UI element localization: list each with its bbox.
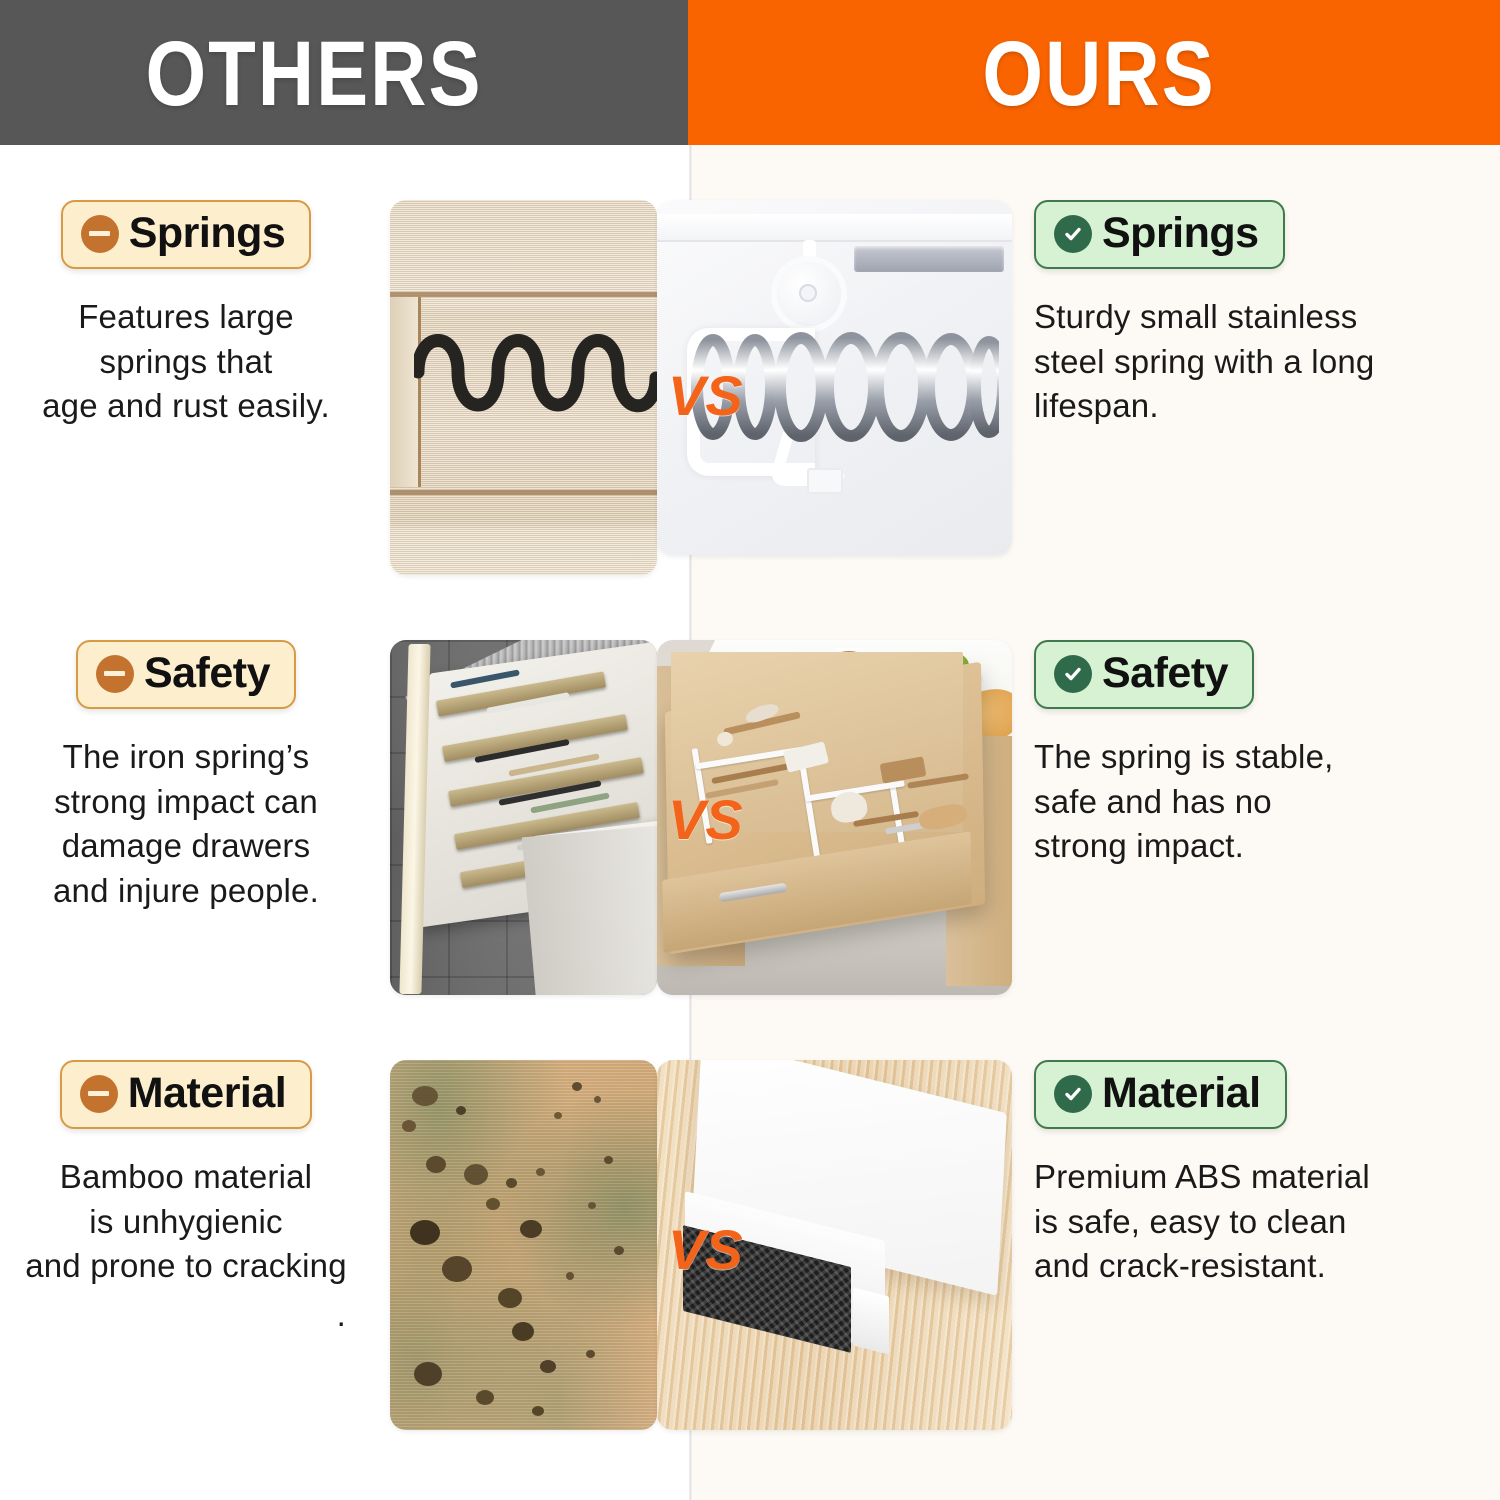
vs-marker: VS: [668, 368, 743, 424]
header-others-title: OTHERS: [145, 26, 482, 118]
badge-others-safety: Safety: [76, 640, 296, 709]
photo-others-springs: [390, 200, 657, 575]
badge-label: Springs: [1102, 212, 1259, 255]
others-text-springs: Springs Features largesprings thatage an…: [0, 200, 390, 429]
ours-material-description: Premium ABS materialis safe, easy to cle…: [1034, 1155, 1427, 1289]
badge-label: Safety: [1102, 652, 1228, 695]
others-material-description: Bamboo materialis unhygienicand prone to…: [0, 1155, 372, 1341]
ours-text-springs: Springs Sturdy small stainlesssteel spri…: [1012, 200, 1427, 429]
badge-others-springs: Springs: [61, 200, 312, 269]
ours-text-material: Material Premium ABS materialis safe, ea…: [1012, 1060, 1427, 1289]
header-ours-title: OURS: [982, 26, 1215, 118]
comparison-infographic: OTHERS OURS Springs Features largespring…: [0, 0, 1500, 1500]
others-springs-description: Features largesprings thatage and rust e…: [0, 295, 372, 429]
minus-circle-icon: [81, 215, 119, 253]
badge-others-material: Material: [60, 1060, 313, 1129]
check-circle-icon: [1054, 655, 1092, 693]
photo-others-safety: [390, 640, 657, 995]
ours-text-safety: Safety The spring is stable,safe and has…: [1012, 640, 1427, 869]
header-ours: OURS: [688, 0, 1500, 145]
header-others: OTHERS: [0, 0, 688, 145]
badge-label: Safety: [144, 652, 270, 695]
badge-label: Material: [128, 1072, 287, 1115]
badge-ours-material: Material: [1034, 1060, 1287, 1129]
comparison-row-springs: Springs Features largesprings thatage an…: [0, 200, 1500, 590]
others-safety-description: The iron spring’sstrong impact candamage…: [0, 735, 372, 913]
header-bar: OTHERS OURS: [0, 0, 1500, 145]
ours-springs-description: Sturdy small stainlesssteel spring with …: [1034, 295, 1427, 429]
comparison-row-material: Material Bamboo materialis unhygienicand…: [0, 1060, 1500, 1440]
vs-marker: VS: [668, 1222, 743, 1278]
others-text-safety: Safety The iron spring’sstrong impact ca…: [0, 640, 390, 913]
comparison-row-safety: Safety The iron spring’sstrong impact ca…: [0, 640, 1500, 1005]
badge-ours-safety: Safety: [1034, 640, 1254, 709]
badge-label: Springs: [129, 212, 286, 255]
others-text-material: Material Bamboo materialis unhygienicand…: [0, 1060, 390, 1341]
black-zigzag-spring-illustration: [414, 320, 657, 425]
badge-ours-springs: Springs: [1034, 200, 1285, 269]
badge-label: Material: [1102, 1072, 1261, 1115]
check-circle-icon: [1054, 1075, 1092, 1113]
vs-marker: VS: [668, 792, 743, 848]
minus-circle-icon: [96, 655, 134, 693]
others-material-description-tail: .: [0, 1289, 372, 1342]
check-circle-icon: [1054, 215, 1092, 253]
minus-circle-icon: [80, 1075, 118, 1113]
ours-safety-description: The spring is stable,safe and has nostro…: [1034, 735, 1427, 869]
photo-others-material: [390, 1060, 657, 1430]
